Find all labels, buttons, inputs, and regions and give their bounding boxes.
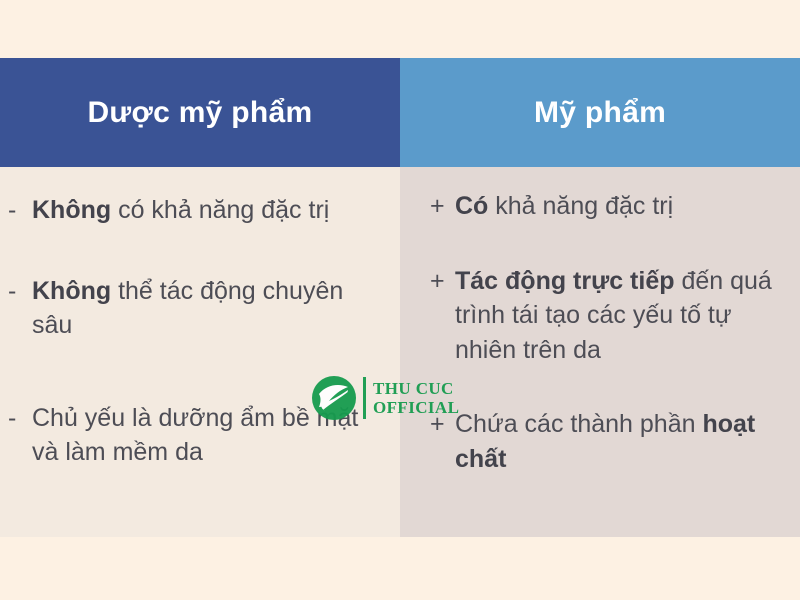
left-column-body: - Không có khả năng đặc trị - Không thể … <box>0 167 400 537</box>
right-bullet-list: + Có khả năng đặc trị + Tác động trực ti… <box>430 189 786 476</box>
column-duoc-my-pham: Dược mỹ phẩm - Không có khả năng đặc trị… <box>0 58 400 537</box>
list-item: + Có khả năng đặc trị <box>430 189 786 224</box>
list-item-text: Không có khả năng đặc trị <box>32 193 390 228</box>
list-item-emphasis: Có <box>455 192 488 220</box>
left-column-header: Dược mỹ phẩm <box>0 58 400 167</box>
bullet-marker-plus-icon: + <box>430 264 455 299</box>
comparison-table: Dược mỹ phẩm - Không có khả năng đặc trị… <box>0 58 800 537</box>
list-item-text: Có khả năng đặc trị <box>455 189 786 224</box>
list-item-text: Tác động trực tiếp đến quá trình tái tạo… <box>455 264 786 368</box>
list-item-emphasis: Tác động trực tiếp <box>455 267 675 295</box>
list-item: + Tác động trực tiếp đến quá trình tái t… <box>430 264 786 368</box>
list-item-emphasis: Không <box>32 196 111 224</box>
right-column-header: Mỹ phẩm <box>400 58 800 167</box>
list-item-rest: khả năng đặc trị <box>488 192 673 220</box>
bullet-marker-dash-icon: - <box>8 401 32 436</box>
list-item-rest: Chủ yếu là dưỡng ẩm bề mặt và làm mềm da <box>32 404 358 467</box>
list-item: - Không có khả năng đặc trị <box>8 193 390 228</box>
left-bullet-list: - Không có khả năng đặc trị - Không thể … <box>8 193 390 470</box>
left-column-title: Dược mỹ phẩm <box>87 96 312 129</box>
list-item-rest: có khả năng đặc trị <box>111 196 329 224</box>
list-item-rest: Chứa các thành phần <box>455 410 702 438</box>
right-column-body: + Có khả năng đặc trị + Tác động trực ti… <box>400 167 800 537</box>
list-item-emphasis: Không <box>32 277 111 305</box>
list-item: + Chứa các thành phần hoạt chất <box>430 407 786 476</box>
bullet-marker-dash-icon: - <box>8 193 32 228</box>
right-column-title: Mỹ phẩm <box>534 96 666 129</box>
list-item-text: Không thể tác động chuyên sâu <box>32 274 390 343</box>
list-item-text: Chứa các thành phần hoạt chất <box>455 407 786 476</box>
bullet-marker-dash-icon: - <box>8 274 32 309</box>
page-root: { "colors": { "page_background": "#FDF1E… <box>0 0 800 600</box>
list-item: - Chủ yếu là dưỡng ẩm bề mặt và làm mềm … <box>8 401 390 470</box>
bullet-marker-plus-icon: + <box>430 407 455 442</box>
bullet-marker-plus-icon: + <box>430 189 455 224</box>
list-item: - Không thể tác động chuyên sâu <box>8 274 390 343</box>
list-item-text: Chủ yếu là dưỡng ẩm bề mặt và làm mềm da <box>32 401 390 470</box>
column-my-pham: Mỹ phẩm + Có khả năng đặc trị + Tác động… <box>400 58 800 537</box>
